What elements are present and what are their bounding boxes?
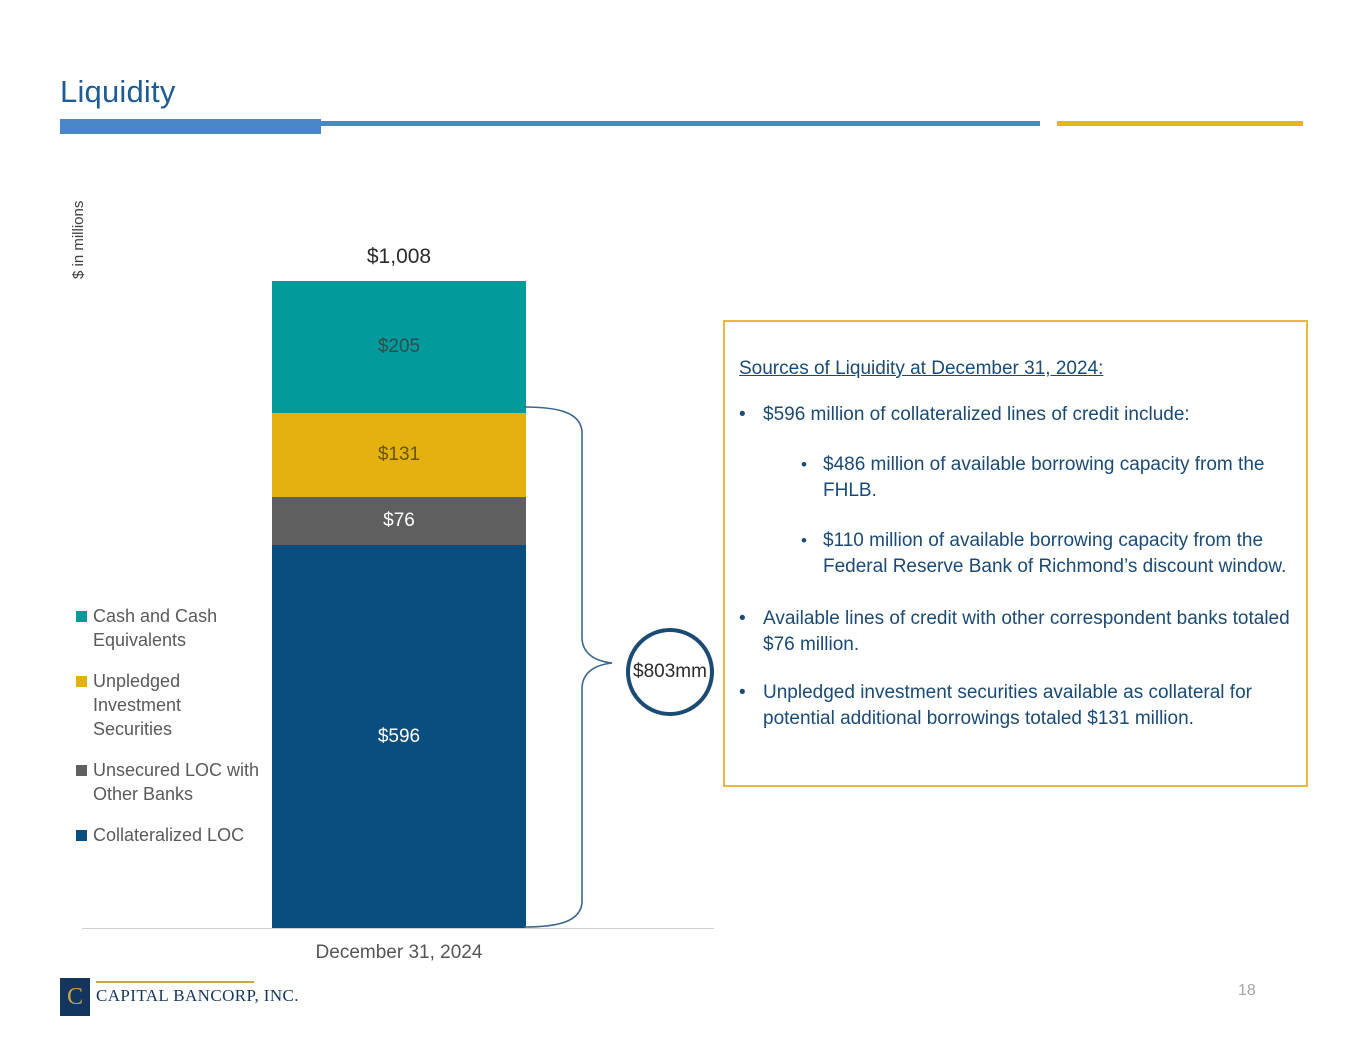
bullet-item: •Available lines of credit with other co… [739, 606, 1292, 658]
bar-segment-label: $76 [383, 510, 415, 532]
bullet-dot-icon: • [739, 680, 763, 732]
page-title: Liquidity [60, 74, 176, 110]
bullet-text: Unpledged investment securities availabl… [763, 680, 1292, 732]
sources-of-liquidity-box: Sources of Liquidity at December 31, 202… [723, 320, 1308, 787]
y-axis-title: $ in millions [48, 65, 65, 175]
sub-bullet-dot-icon: • [801, 528, 823, 580]
bullet-dot-icon: • [739, 606, 763, 658]
legend-item[interactable]: Collateralized LOC [76, 823, 261, 847]
legend-swatch-icon [76, 611, 87, 622]
logo-mark-icon: C [60, 978, 90, 1016]
legend-item-label: Cash and Cash Equivalents [93, 604, 261, 652]
bullet-group: •Unpledged investment securities availab… [739, 680, 1292, 732]
x-axis-category-label: December 31, 2024 [272, 942, 526, 964]
legend-swatch-icon [76, 830, 87, 841]
stacked-bar-chart: $205$131$76$596 [272, 281, 526, 928]
bar-segment-label: $205 [378, 336, 420, 358]
logo-text-wrap: CAPITAL BANCORP, INC. [96, 978, 299, 1006]
bullet-dot-icon: • [739, 402, 763, 428]
info-box-heading: Sources of Liquidity at December 31, 202… [739, 358, 1103, 380]
bar-segment-label: $596 [378, 726, 420, 748]
legend-item[interactable]: Unpledged Investment Securities [76, 669, 261, 741]
chart-legend: Cash and Cash EquivalentsUnpledged Inves… [76, 604, 261, 864]
bullet-item: •Unpledged investment securities availab… [739, 680, 1292, 732]
legend-item-label: Unsecured LOC with Other Banks [93, 758, 261, 806]
bullet-text: Available lines of credit with other cor… [763, 606, 1292, 658]
sub-bullet-text: $110 million of available borrowing capa… [823, 528, 1292, 580]
header-rule-gold [1057, 121, 1303, 126]
bullet-group: •Available lines of credit with other co… [739, 606, 1292, 658]
bullet-group: •$596 million of collateralized lines of… [739, 402, 1292, 580]
logo-spiral-icon: C [60, 978, 90, 1016]
bar-segment: $131 [272, 413, 526, 497]
callout-circle-label: $803mm [633, 661, 707, 683]
legend-swatch-icon [76, 676, 87, 687]
info-box-bullet-list: •$596 million of collateralized lines of… [739, 402, 1292, 754]
bar-segment-label: $131 [378, 444, 420, 466]
bullet-text: $596 million of collateralized lines of … [763, 402, 1190, 428]
bar-segment: $596 [272, 545, 526, 928]
bar-total-label: $1,008 [272, 245, 526, 269]
legend-swatch-icon [76, 765, 87, 776]
sub-bullet-dot-icon: • [801, 452, 823, 504]
sub-bullet-item: •$110 million of available borrowing cap… [801, 528, 1292, 580]
company-name: CAPITAL BANCORP, INC. [96, 986, 299, 1006]
bar-segment: $205 [272, 281, 526, 413]
legend-item[interactable]: Unsecured LOC with Other Banks [76, 758, 261, 806]
slide: Liquidity $ in millions $1,008 $205$131$… [0, 0, 1365, 1055]
company-logo: C CAPITAL BANCORP, INC. [60, 978, 299, 1016]
header-rule-blue-thick [60, 119, 321, 134]
callout-circle: $803mm [626, 628, 714, 716]
bar-segment: $76 [272, 497, 526, 546]
legend-item-label: Unpledged Investment Securities [93, 669, 261, 741]
sub-bullet-item: •$486 million of available borrowing cap… [801, 452, 1292, 504]
legend-item-label: Collateralized LOC [93, 823, 244, 847]
page-number: 18 [1238, 982, 1256, 1000]
sub-bullet-text: $486 million of available borrowing capa… [823, 452, 1292, 504]
logo-rule [96, 981, 254, 983]
y-axis-title-text: $ in millions [70, 201, 87, 279]
bullet-item: •$596 million of collateralized lines of… [739, 402, 1292, 428]
legend-item[interactable]: Cash and Cash Equivalents [76, 604, 261, 652]
